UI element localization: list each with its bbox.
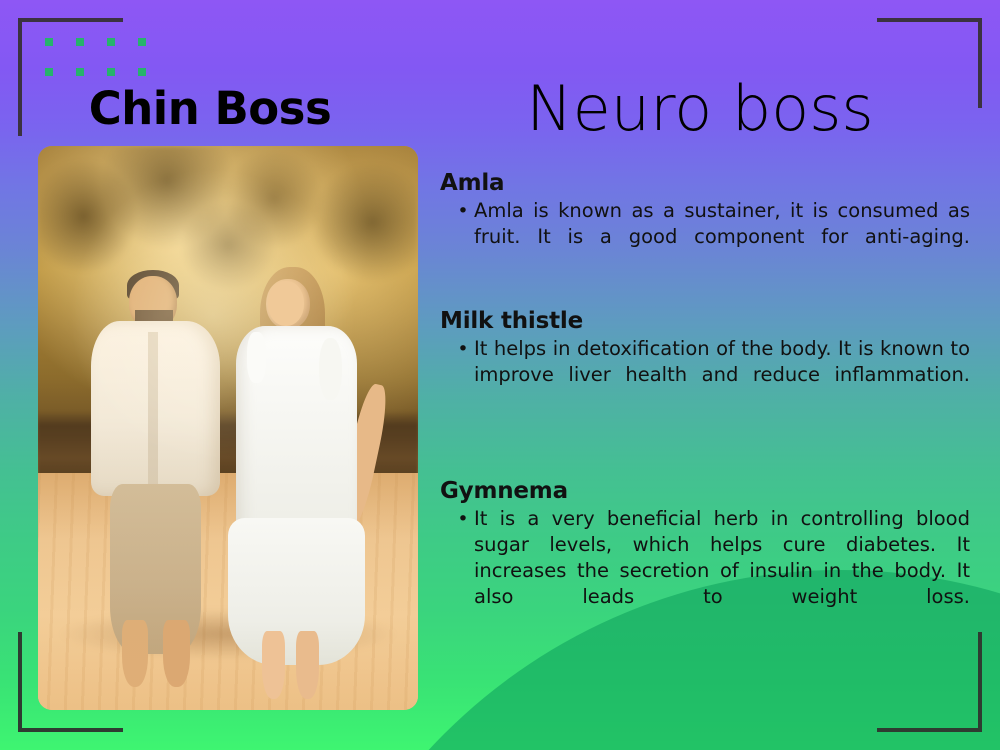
bullet-text: It helps in detoxification of the body. … [474,336,970,414]
grid-dot [45,38,53,46]
bullet-dot-icon: • [452,336,474,362]
bullet-dot-icon: • [452,198,474,224]
bullet-dot-icon: • [452,506,474,532]
grid-dot [45,68,53,76]
photo-woman-face [268,281,304,326]
bullet-item: • It helps in detoxification of the body… [440,336,970,414]
section-heading: Milk thistle [440,308,970,334]
content-sections: Amla • Amla is known as a sustainer, it … [440,170,970,642]
grid-dot [138,68,146,76]
grid-dot [76,68,84,76]
grid-dot [107,68,115,76]
grid-dot [76,38,84,46]
couple-walking-photo [38,146,418,710]
section-spacer [440,282,970,308]
left-brand-title: Chin Boss [0,82,420,135]
photo-man-leg-left [122,620,149,688]
photo-man-leg-right [163,620,190,688]
photo-woman-dress-strap-left [247,332,266,383]
bullet-item: • It is a very beneficial herb in contro… [440,506,970,636]
section-gymnema: Gymnema • It is a very beneficial herb i… [440,478,970,636]
photo-woman-leg-left [262,631,285,699]
slide-canvas: Chin Boss Neuro boss Amla • [0,0,1000,750]
photo-woman-leg-right [296,631,319,699]
corner-bracket-bottom-right [877,632,982,732]
bullet-text: It is a very beneficial herb in controll… [474,506,970,636]
photo-man-shirt-placket [148,332,158,490]
section-heading: Amla [440,170,970,196]
section-heading: Gymnema [440,478,970,504]
section-milk-thistle: Milk thistle • It helps in detoxificatio… [440,308,970,414]
page-title: Neuro boss [440,78,960,140]
grid-dot [138,38,146,46]
bullet-text: Amla is known as a sustainer, it is cons… [474,198,970,276]
section-amla: Amla • Amla is known as a sustainer, it … [440,170,970,276]
section-spacer [440,420,970,478]
grid-dot [107,38,115,46]
photo-woman-dress-strap-right [319,338,342,400]
dot-grid-decoration [45,38,146,76]
bullet-item: • Amla is known as a sustainer, it is co… [440,198,970,276]
